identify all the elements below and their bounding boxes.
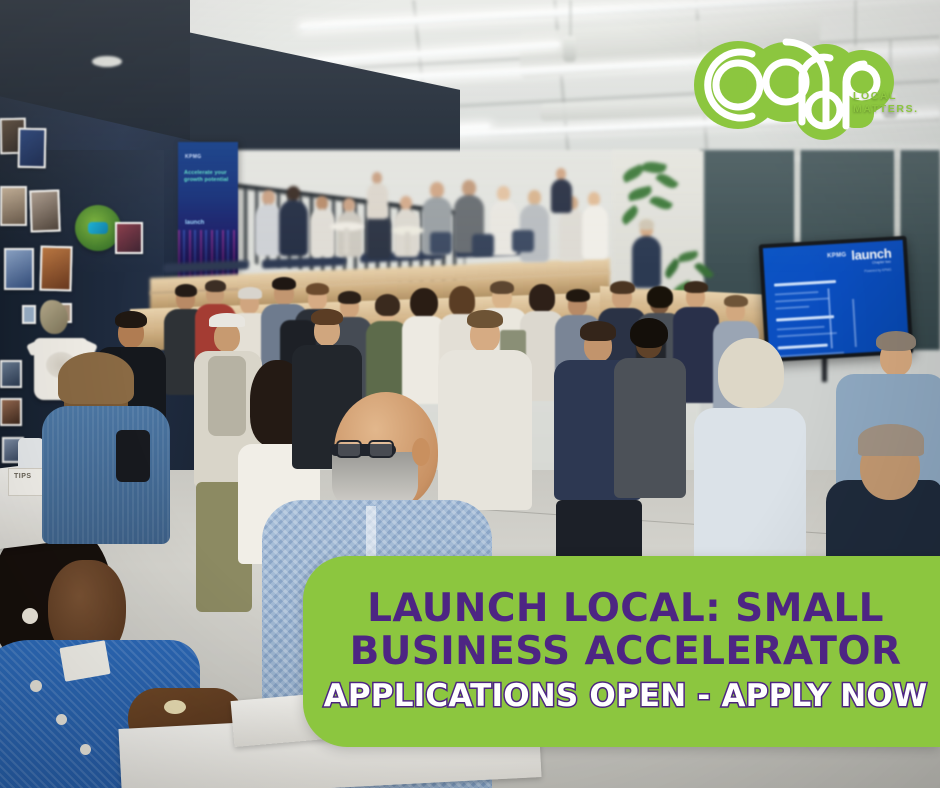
recessed-ceiling-light	[92, 56, 122, 67]
promo-banner: LAUNCH LOCAL: SMALL BUSINESS ACCELERATOR…	[303, 556, 940, 747]
carrop-logo: LOCAL MATTERS.	[690, 30, 915, 142]
attendee-hair-right	[858, 424, 924, 456]
tagline-local: LOCAL	[853, 90, 923, 103]
shoulder-bag	[116, 430, 150, 482]
tagline-matters: MATTERS.	[853, 103, 923, 116]
rollup-headline: Accelerate your growth potential	[184, 170, 233, 185]
call-to-action[interactable]: APPLICATIONS OPEN - APPLY NOW	[324, 681, 928, 712]
tips-label: TIPS	[14, 473, 32, 480]
earring	[22, 608, 38, 624]
logo-tagline: LOCAL MATTERS.	[853, 90, 923, 116]
headline-line-1: LAUNCH LOCAL: SMALL	[367, 589, 884, 629]
monitor-kpmg-logo: KPMG	[827, 252, 847, 259]
rollup-program-label: launch	[185, 220, 204, 226]
monitor-program-sub: Chapter two	[872, 260, 891, 265]
monitor-footer-text: Powered by KPMG	[864, 268, 891, 274]
headline-line-2: BUSINESS ACCELERATOR	[350, 632, 902, 672]
framed-art-small	[115, 222, 143, 254]
rollup-sponsor-label: KPMG	[185, 154, 202, 160]
poster-root: KPMG Accelerate your growth potential la…	[0, 0, 940, 788]
